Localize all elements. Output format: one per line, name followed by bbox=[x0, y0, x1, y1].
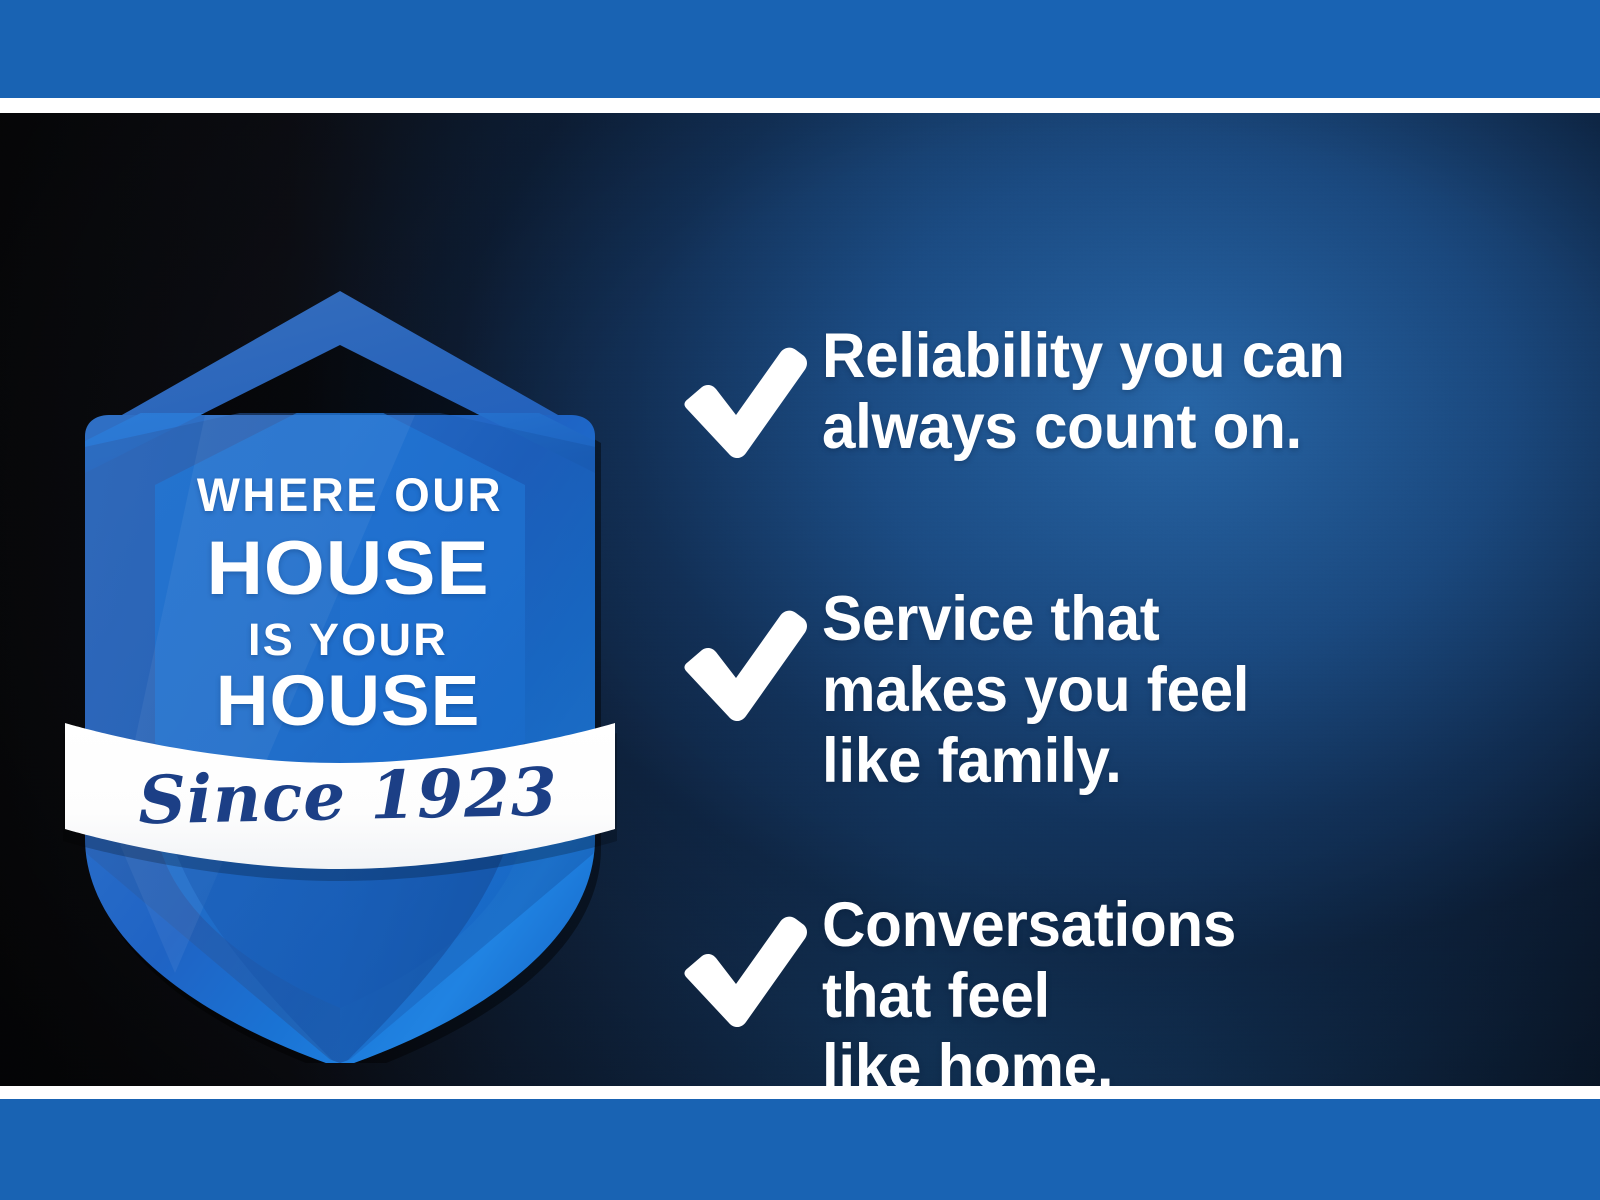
bottom-brand-bar bbox=[0, 1099, 1600, 1200]
main-stage: WHERE OUR HOUSE IS YOUR HOUSE Since 1923… bbox=[0, 113, 1600, 1086]
logo-line-house-1: HOUSE bbox=[54, 531, 641, 607]
benefits-checklist: Reliability you can always count on. Ser… bbox=[672, 303, 1552, 1086]
logo-line-is-your: IS YOUR bbox=[63, 617, 633, 662]
logo-line-where: WHERE OUR bbox=[74, 471, 627, 518]
list-item-text: Service that makes you feel like family. bbox=[822, 584, 1519, 798]
list-item: Reliability you can always count on. bbox=[672, 321, 1552, 466]
list-item-text: Reliability you can always count on. bbox=[822, 321, 1519, 463]
checkmark-icon bbox=[672, 584, 822, 729]
shield-logo: WHERE OUR HOUSE IS YOUR HOUSE Since 1923 bbox=[55, 273, 625, 1063]
checkmark-icon bbox=[672, 321, 822, 466]
logo-since-year: Since 1923 bbox=[62, 757, 633, 835]
top-brand-bar bbox=[0, 0, 1600, 98]
bottom-white-divider bbox=[0, 1086, 1600, 1099]
logo-line-house-2: HOUSE bbox=[54, 666, 641, 737]
list-item: Service that makes you feel like family. bbox=[672, 584, 1552, 798]
list-item: Conversations that feel like home. bbox=[672, 890, 1552, 1086]
checkmark-icon bbox=[672, 890, 822, 1035]
list-item-text: Conversations that feel like home. bbox=[822, 890, 1519, 1086]
promo-graphic: WHERE OUR HOUSE IS YOUR HOUSE Since 1923… bbox=[0, 0, 1600, 1200]
top-white-divider bbox=[0, 98, 1600, 113]
